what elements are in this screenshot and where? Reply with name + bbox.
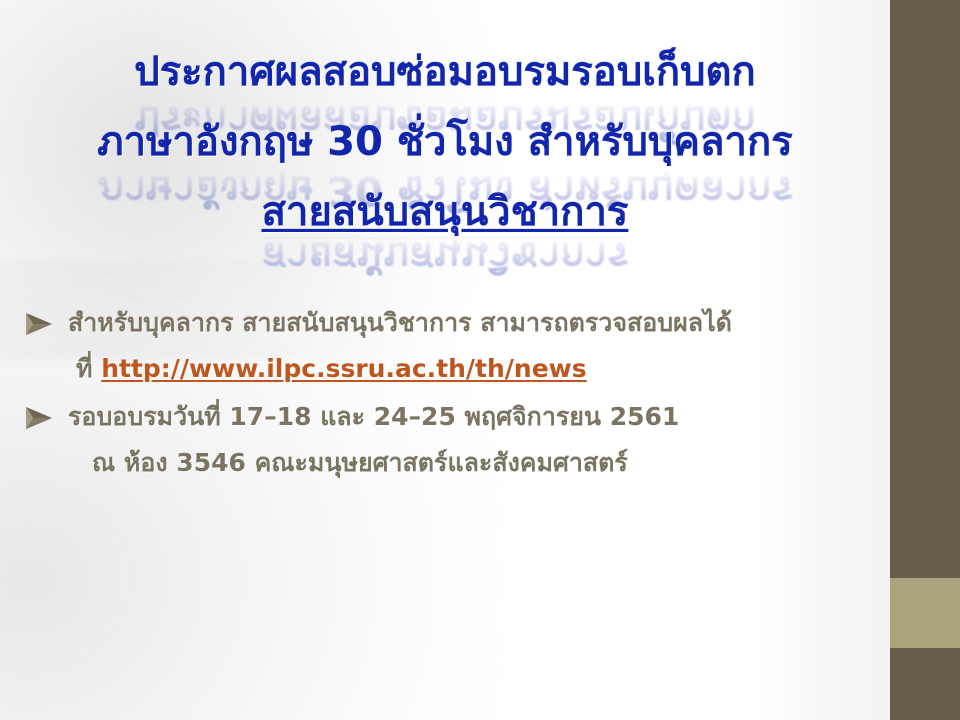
bullet-item-1: สำหรับบุคลากร สายสนับสนุนวิชาการ สามารถต…	[18, 300, 878, 392]
bullet-1-line-2: ที่ http://www.ilpc.ssru.ac.th/th/news	[68, 346, 878, 392]
slide-canvas: ประกาศผลสอบซ่อมอบรมรอบเก็บตก ประกาศผลสอบ…	[0, 0, 960, 720]
title-line-3-wrap: สายสนับสนุนวิชาการ สายสนับสนุนวิชาการ	[0, 186, 890, 250]
bullet-item-2: รอบอบรมวันที่ 17–18 และ 24–25 พฤศจิการยน…	[18, 394, 878, 486]
slide-body: สำหรับบุคลากร สายสนับสนุนวิชาการ สามารถต…	[18, 300, 878, 488]
bullet-item-1-body: สำหรับบุคลากร สายสนับสนุนวิชาการ สามารถต…	[68, 300, 878, 392]
arrowhead-bullet-icon	[18, 300, 68, 336]
title-line-3: สายสนับสนุนวิชาการ	[262, 186, 629, 238]
title-line-2: ภาษาอังกฤษ 30 ชั่วโมง สำหรับบุคลากร	[97, 116, 792, 168]
sidebar-segment-bottom	[890, 648, 960, 720]
arrowhead-bullet-icon	[18, 394, 68, 430]
decorative-sidebar	[890, 0, 960, 720]
bullet-2-line-1: รอบอบรมวันที่ 17–18 และ 24–25 พฤศจิการยน…	[68, 394, 878, 440]
title-line-2-wrap: ภาษาอังกฤษ 30 ชั่วโมง สำหรับบุคลากร ภาษา…	[0, 116, 890, 186]
bullet-item-2-body: รอบอบรมวันที่ 17–18 และ 24–25 พฤศจิการยน…	[68, 394, 878, 486]
bullet-1-line-2-prefix: ที่	[76, 354, 101, 383]
slide-title: ประกาศผลสอบซ่อมอบรมรอบเก็บตก ประกาศผลสอบ…	[0, 46, 890, 250]
bullet-1-line-1: สำหรับบุคลากร สายสนับสนุนวิชาการ สามารถต…	[68, 300, 878, 346]
sidebar-segment-accent	[890, 578, 960, 648]
title-line-1: ประกาศผลสอบซ่อมอบรมรอบเก็บตก	[134, 46, 755, 98]
ilpc-news-link[interactable]: http://www.ilpc.ssru.ac.th/th/news	[101, 354, 586, 383]
title-line-1-wrap: ประกาศผลสอบซ่อมอบรมรอบเก็บตก ประกาศผลสอบ…	[0, 46, 890, 116]
bullet-2-line-2: ณ ห้อง 3546 คณะมนุษยศาสตร์และสังคมศาสตร์	[68, 440, 878, 486]
sidebar-segment-top	[890, 0, 960, 578]
